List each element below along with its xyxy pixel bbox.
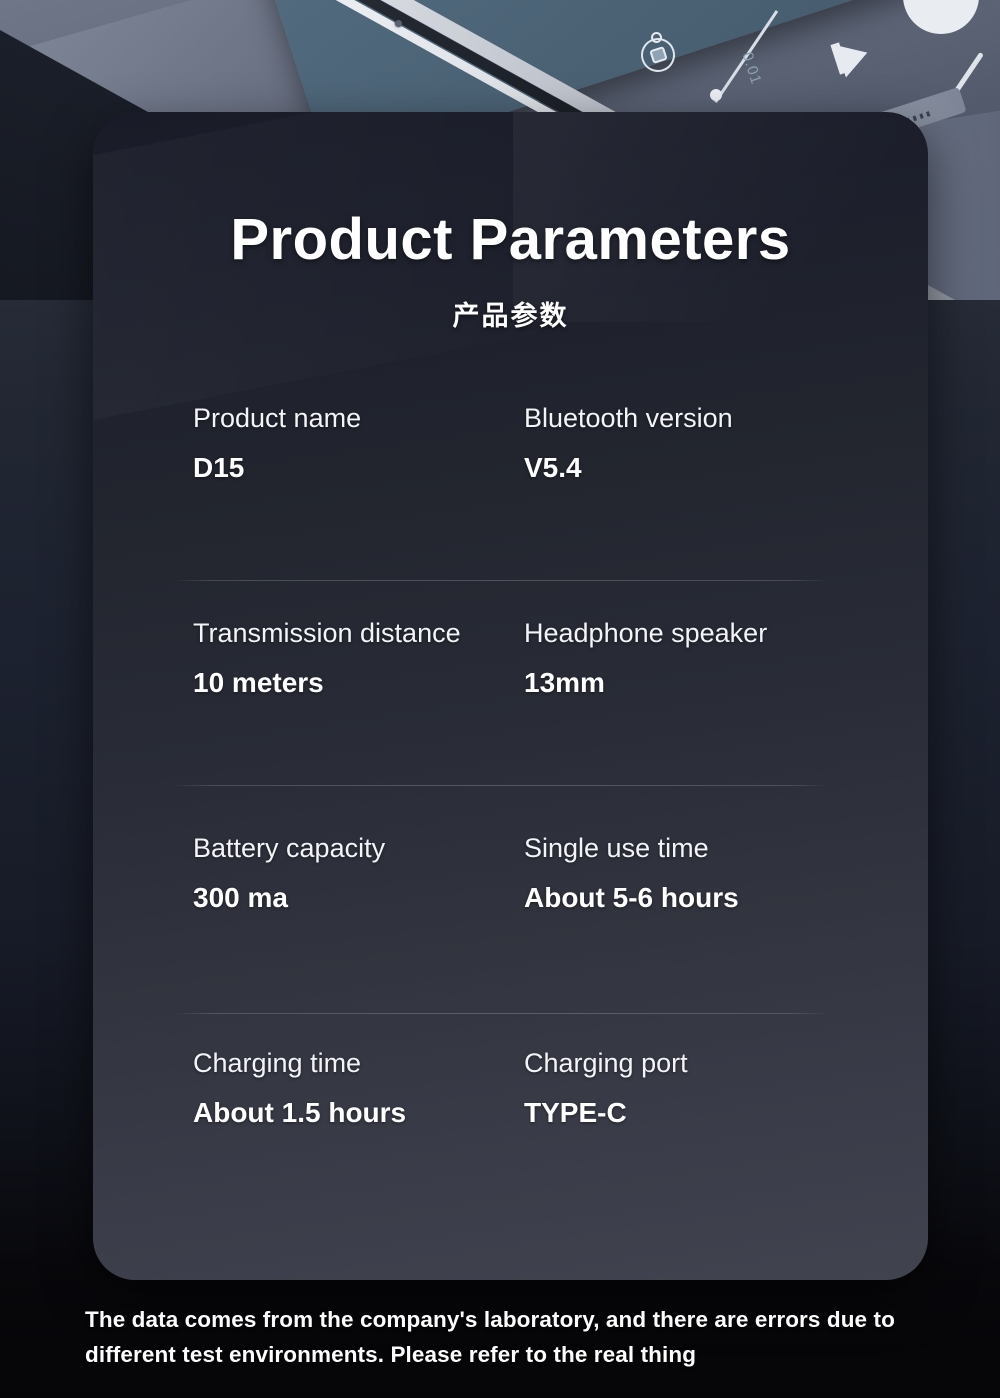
spec-label: Headphone speaker	[524, 619, 767, 649]
spec-label: Transmission distance	[193, 619, 461, 649]
table-row: Battery capacity 300 ma Single use time …	[93, 834, 928, 1049]
spec-cell-product-name: Product name D15	[193, 404, 361, 483]
spec-value: 10 meters	[193, 668, 461, 699]
camera-lens-top-icon	[651, 32, 662, 43]
pointer-dot-icon	[710, 89, 722, 101]
phone-camera-pinhole-icon	[395, 20, 402, 27]
table-row: Product name D15 Bluetooth version V5.4	[93, 404, 928, 619]
spec-label: Charging port	[524, 1049, 688, 1079]
spec-label: Charging time	[193, 1049, 406, 1079]
row-divider	[173, 580, 828, 581]
spec-label: Product name	[193, 404, 361, 434]
spec-value: About 1.5 hours	[193, 1098, 406, 1129]
table-row: Charging time About 1.5 hours Charging p…	[93, 1049, 928, 1264]
spec-cell-charging-time: Charging time About 1.5 hours	[193, 1049, 406, 1128]
spec-cell-charging-port: Charging port TYPE-C	[524, 1049, 688, 1128]
spec-value: 300 ma	[193, 883, 385, 914]
spec-label: Battery capacity	[193, 834, 385, 864]
spec-cell-battery-capacity: Battery capacity 300 ma	[193, 834, 385, 913]
spec-table: Product name D15 Bluetooth version V5.4 …	[93, 404, 928, 1264]
page-subtitle: 产品参数	[93, 294, 928, 333]
spec-value: V5.4	[524, 453, 733, 484]
spec-value: D15	[193, 453, 361, 484]
spec-value: TYPE-C	[524, 1098, 688, 1129]
screen-value-label: 0.01	[738, 50, 764, 87]
spec-cell-headphone-speaker: Headphone speaker 13mm	[524, 619, 767, 698]
row-divider	[173, 785, 828, 786]
row-divider	[173, 1013, 828, 1014]
spec-label: Bluetooth version	[524, 404, 733, 434]
spec-label: Single use time	[524, 834, 739, 864]
spec-cell-single-use-time: Single use time About 5-6 hours	[524, 834, 739, 913]
spec-value: About 5-6 hours	[524, 883, 739, 914]
product-parameters-card: Product Parameters 产品参数 Product name D15…	[93, 112, 928, 1280]
spec-cell-bluetooth-version: Bluetooth version V5.4	[524, 404, 733, 483]
page-title: Product Parameters	[93, 206, 928, 273]
spec-cell-transmission-distance: Transmission distance 10 meters	[193, 619, 461, 698]
circle-shape-icon	[903, 0, 979, 34]
table-row: Transmission distance 10 meters Headphon…	[93, 619, 928, 834]
disclaimer-text: The data comes from the company's labora…	[85, 1303, 915, 1373]
product-parameters-page: 0.01 Product Parameters 产品参数 Product nam…	[0, 0, 1000, 1398]
spec-value: 13mm	[524, 668, 767, 699]
